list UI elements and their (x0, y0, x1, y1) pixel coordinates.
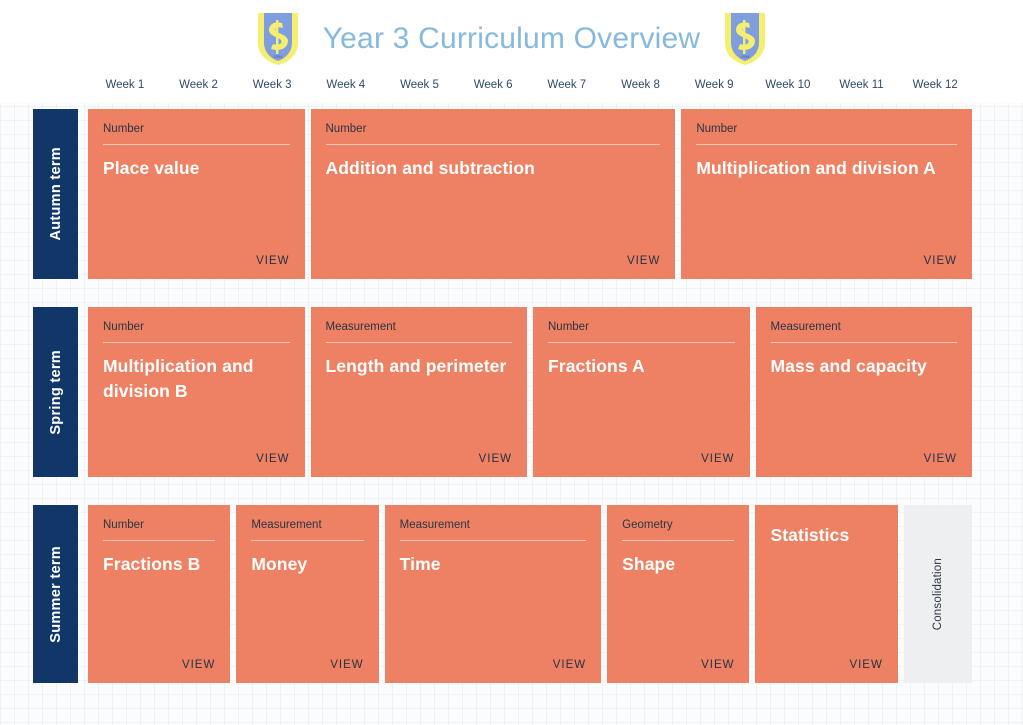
unit-title: Length and perimeter (326, 354, 513, 379)
cards-area-spring: NumberMultiplication and division BVIEWM… (88, 307, 972, 477)
term-tab-label: Summer term (48, 546, 64, 643)
term-tab-label: Spring term (48, 350, 64, 435)
unit-card[interactable]: NumberFractions BVIEW (88, 505, 230, 683)
unit-title: Shape (622, 552, 734, 577)
unit-title: Time (400, 552, 587, 577)
unit-category: Measurement (326, 320, 513, 342)
unit-title: Multiplication and division B (103, 354, 290, 404)
cards-area-summer: NumberFractions BVIEWMeasurementMoneyVIE… (88, 505, 972, 683)
unit-category: Measurement (251, 518, 363, 540)
unit-title: Addition and subtraction (326, 156, 661, 181)
consolidation-label: Consolidation (932, 558, 944, 630)
unit-divider (103, 144, 290, 145)
week-header-10: Week 10 (751, 78, 825, 103)
term-tab-spring: Spring term (33, 307, 78, 477)
week-header-9: Week 9 (677, 78, 751, 103)
unit-divider (251, 540, 363, 541)
unit-title: Multiplication and division A (696, 156, 957, 181)
unit-divider (771, 342, 958, 343)
unit-view-link[interactable]: VIEW (701, 453, 734, 466)
unit-card[interactable]: NumberMultiplication and division BVIEW (88, 307, 305, 477)
unit-category: Number (103, 122, 290, 144)
curriculum-overview-page: 1934 Year 3 Curriculum Overview 1934 Wee… (0, 0, 1023, 725)
unit-category: Number (326, 122, 661, 144)
week-header-12: Week 12 (898, 78, 972, 103)
unit-divider (400, 540, 587, 541)
unit-view-link[interactable]: VIEW (627, 255, 660, 268)
unit-divider (103, 342, 290, 343)
term-tab-summer: Summer term (33, 505, 78, 683)
unit-category: Number (103, 518, 215, 540)
unit-title: Fractions B (103, 552, 215, 577)
unit-category: Measurement (400, 518, 587, 540)
unit-card[interactable]: MeasurementTimeVIEW (385, 505, 602, 683)
school-crest-icon-left: 1934 (255, 11, 301, 67)
unit-title: Place value (103, 156, 290, 181)
week-header-5: Week 5 (383, 78, 457, 103)
page-title: Year 3 Curriculum Overview (323, 24, 701, 54)
unit-category: Number (548, 320, 735, 342)
unit-view-link[interactable]: VIEW (479, 453, 512, 466)
unit-divider (696, 144, 957, 145)
unit-category: Geometry (622, 518, 734, 540)
unit-view-link[interactable]: VIEW (924, 453, 957, 466)
unit-card[interactable]: MeasurementMoneyVIEW (236, 505, 378, 683)
unit-divider (622, 540, 734, 541)
unit-card[interactable]: NumberFractions AVIEW (533, 307, 750, 477)
unit-view-link[interactable]: VIEW (182, 659, 215, 672)
unit-card[interactable]: MeasurementMass and capacityVIEW (756, 307, 973, 477)
unit-card[interactable]: NumberPlace valueVIEW (88, 109, 305, 279)
unit-title: Fractions A (548, 354, 735, 379)
unit-card[interactable]: GeometryShapeVIEW (607, 505, 749, 683)
unit-category: Number (103, 320, 290, 342)
unit-divider (548, 342, 735, 343)
term-tab-label: Autumn term (48, 147, 64, 241)
unit-divider (103, 540, 215, 541)
unit-view-link[interactable]: VIEW (924, 255, 957, 268)
term-tab-autumn: Autumn term (33, 109, 78, 279)
unit-title: Mass and capacity (771, 354, 958, 379)
week-header-6: Week 6 (456, 78, 530, 103)
term-row-autumn: Autumn termNumberPlace valueVIEWNumberAd… (0, 103, 1023, 285)
school-crest-icon-right: 1934 (722, 11, 768, 67)
unit-view-link[interactable]: VIEW (849, 659, 882, 672)
unit-divider (326, 144, 661, 145)
unit-title: Statistics (770, 523, 882, 548)
week-header-1: Week 1 (88, 78, 162, 103)
week-header-strip: Week 1Week 2Week 3Week 4Week 5Week 6Week… (0, 78, 1023, 103)
page-header: 1934 Year 3 Curriculum Overview 1934 (0, 0, 1023, 78)
week-header-2: Week 2 (162, 78, 236, 103)
unit-card[interactable]: NumberMultiplication and division AVIEW (681, 109, 972, 279)
unit-view-link[interactable]: VIEW (256, 255, 289, 268)
unit-view-link[interactable]: VIEW (701, 659, 734, 672)
unit-category: Number (696, 122, 957, 144)
svg-text:1934: 1934 (273, 54, 283, 59)
unit-category: Measurement (771, 320, 958, 342)
unit-view-link[interactable]: VIEW (553, 659, 586, 672)
cards-area-autumn: NumberPlace valueVIEWNumberAddition and … (88, 109, 972, 279)
unit-card[interactable]: NumberAddition and subtractionVIEW (311, 109, 676, 279)
week-header-7: Week 7 (530, 78, 604, 103)
unit-card[interactable]: StatisticsVIEW (755, 505, 897, 683)
unit-card[interactable]: MeasurementLength and perimeterVIEW (311, 307, 528, 477)
consolidation-block: Consolidation (904, 505, 972, 683)
curriculum-board: Week 1Week 2Week 3Week 4Week 5Week 6Week… (0, 78, 1023, 725)
week-header-8: Week 8 (604, 78, 678, 103)
week-header-4: Week 4 (309, 78, 383, 103)
term-row-summer: Summer termNumberFractions BVIEWMeasurem… (0, 499, 1023, 687)
unit-divider (326, 342, 513, 343)
term-row-spring: Spring termNumberMultiplication and divi… (0, 301, 1023, 483)
svg-text:1934: 1934 (741, 54, 751, 59)
week-header-11: Week 11 (825, 78, 899, 103)
unit-view-link[interactable]: VIEW (330, 659, 363, 672)
unit-view-link[interactable]: VIEW (256, 453, 289, 466)
unit-title: Money (251, 552, 363, 577)
week-header-3: Week 3 (235, 78, 309, 103)
